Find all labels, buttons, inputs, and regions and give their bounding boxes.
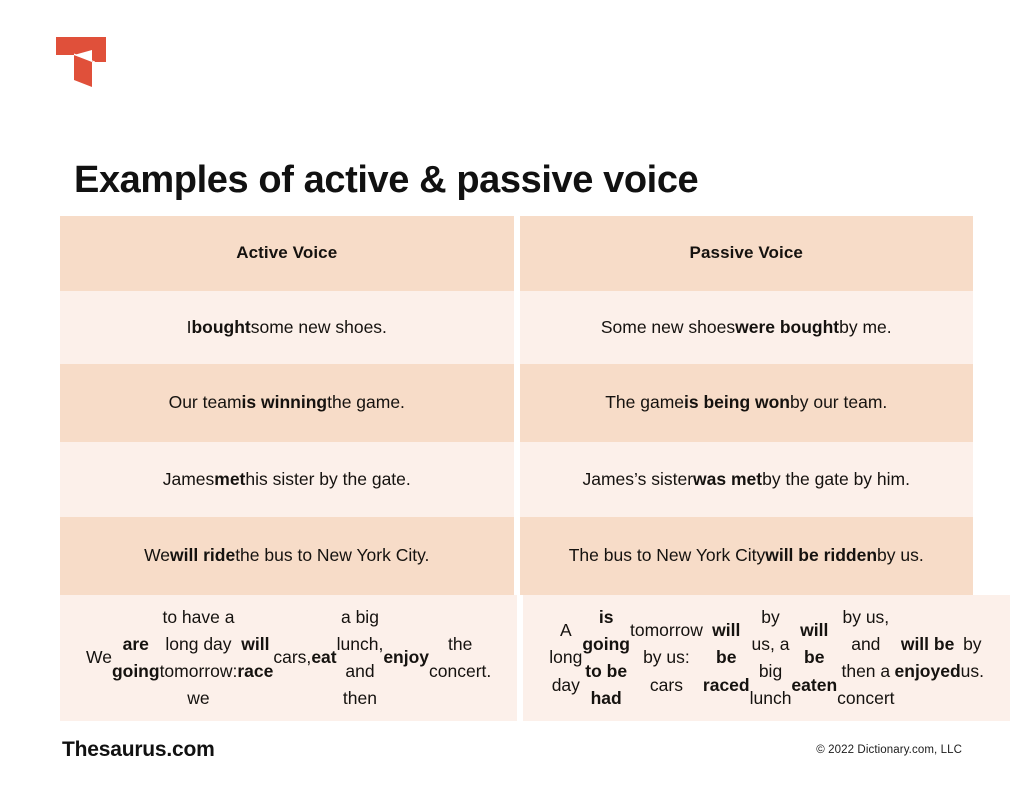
table-row: James met his sister by the gate. James’…	[60, 442, 973, 517]
table-header-row: Active Voice Passive Voice	[60, 216, 973, 291]
thesaurus-logo	[56, 37, 106, 87]
column-header-active-voice: Active Voice	[60, 216, 514, 291]
table-row: I bought some new shoes. Some new shoes …	[60, 291, 973, 364]
cell-passive-voice: James’s sister was met by the gate by hi…	[520, 442, 974, 517]
thesaurus-t-logo-icon	[56, 37, 106, 87]
cell-active-voice: James met his sister by the gate.	[60, 442, 514, 517]
cell-passive-voice: Some new shoes were bought by me.	[520, 291, 974, 364]
table-row: Our team is winning the game. The game i…	[60, 364, 973, 442]
cell-passive-voice: A long day is going to be had tomorrow b…	[523, 595, 1010, 721]
table-row: We are going to have a long day tomorrow…	[60, 595, 973, 721]
footer-brand-name: Thesaurus.com	[62, 738, 215, 762]
active-passive-voice-table: Active Voice Passive Voice I bought some…	[60, 216, 973, 721]
cell-active-voice: We are going to have a long day tomorrow…	[60, 595, 517, 721]
cell-active-voice: I bought some new shoes.	[60, 291, 514, 364]
cell-passive-voice: The game is being won by our team.	[520, 364, 974, 442]
page-title: Examples of active & passive voice	[74, 158, 698, 204]
cell-passive-voice: The bus to New York Citywill be ridden b…	[520, 517, 974, 595]
table-row: We will ride the bus to New York City. T…	[60, 517, 973, 595]
cell-active-voice: We will ride the bus to New York City.	[60, 517, 514, 595]
cell-active-voice: Our team is winning the game.	[60, 364, 514, 442]
footer-copyright: © 2022 Dictionary.com, LLC	[816, 744, 962, 756]
column-header-passive-voice: Passive Voice	[520, 216, 974, 291]
